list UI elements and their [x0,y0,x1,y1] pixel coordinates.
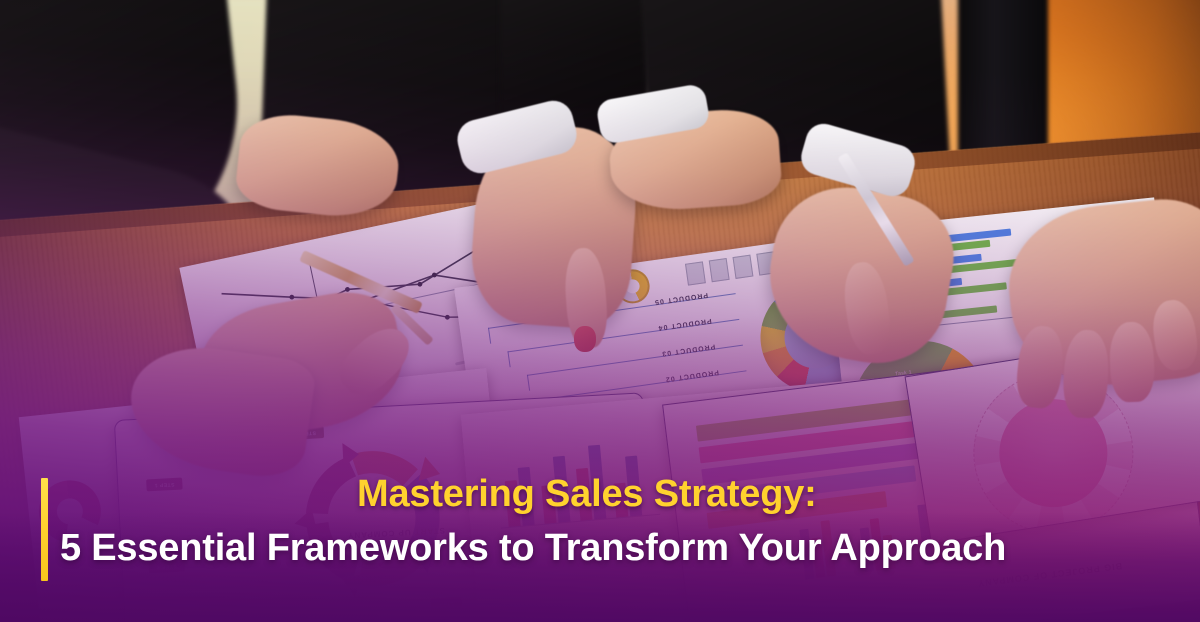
yellow-accent-bar [41,478,48,581]
headline-line-2: 5 Essential Frameworks to Transform Your… [60,527,1006,570]
headline-line-1: Mastering Sales Strategy: [357,473,817,516]
article-banner: PRODUCT SALE OF THE YEAR PRODUCT 01 PROD… [0,0,1200,622]
